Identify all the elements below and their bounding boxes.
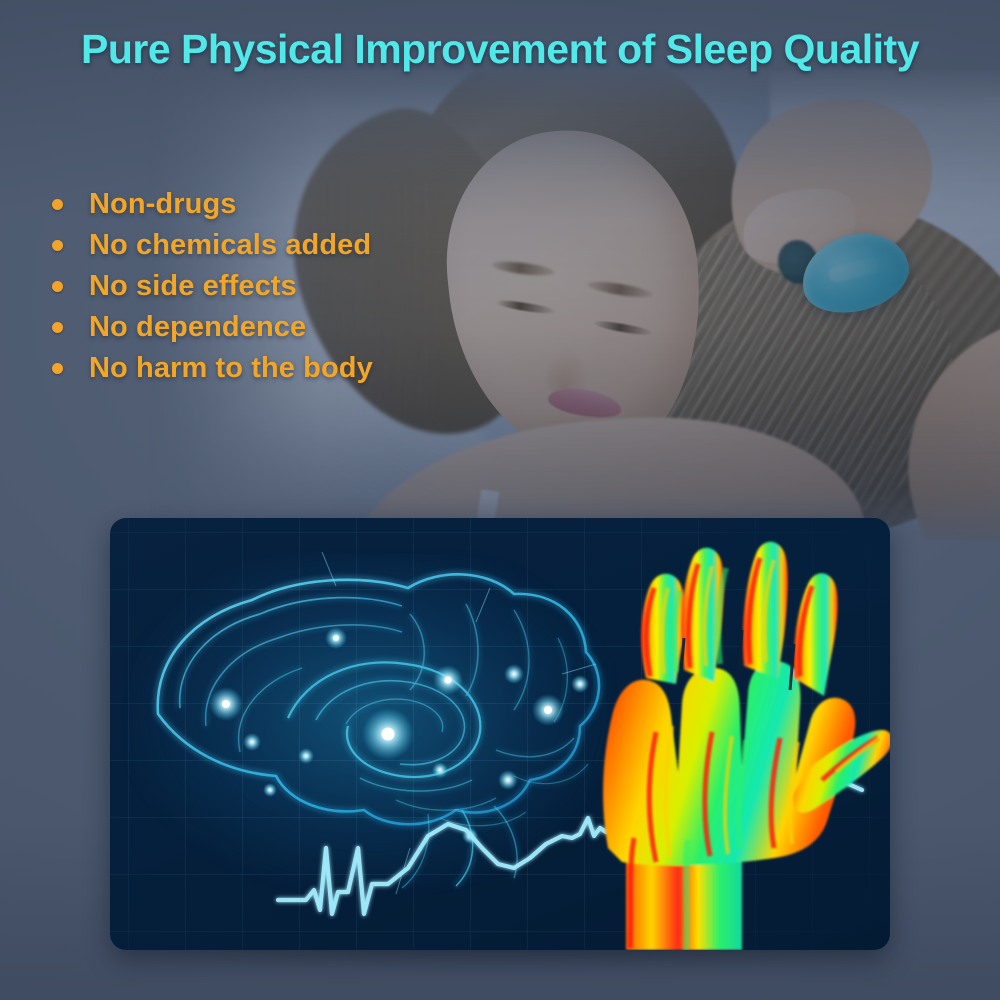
bullet-dot-icon	[52, 322, 63, 333]
page-title: Pure Physical Improvement of Sleep Quali…	[0, 26, 1000, 73]
synapse-nodes	[209, 627, 589, 844]
list-item-label: No harm to the body	[89, 352, 373, 385]
thermal-hand-graphic	[560, 518, 890, 950]
list-item-label: Non-drugs	[89, 188, 237, 221]
list-item: No side effects	[52, 266, 373, 307]
sleep-quality-product-banner: Pure Physical Improvement of Sleep Quali…	[0, 0, 1000, 1000]
list-item-label: No dependence	[89, 311, 306, 344]
list-item: No dependence	[52, 307, 373, 348]
list-item: Non-drugs	[52, 184, 373, 225]
list-item: No chemicals added	[52, 225, 373, 266]
list-item-label: No side effects	[89, 270, 297, 303]
bullet-dot-icon	[52, 240, 63, 251]
list-item-label: No chemicals added	[89, 229, 371, 262]
bullet-dot-icon	[52, 281, 63, 292]
list-item: No harm to the body	[52, 348, 373, 389]
bullet-dot-icon	[52, 199, 63, 210]
benefits-list: Non-drugs No chemicals added No side eff…	[52, 184, 373, 389]
bullet-dot-icon	[52, 363, 63, 374]
brain-hand-visualization-panel	[110, 518, 890, 950]
